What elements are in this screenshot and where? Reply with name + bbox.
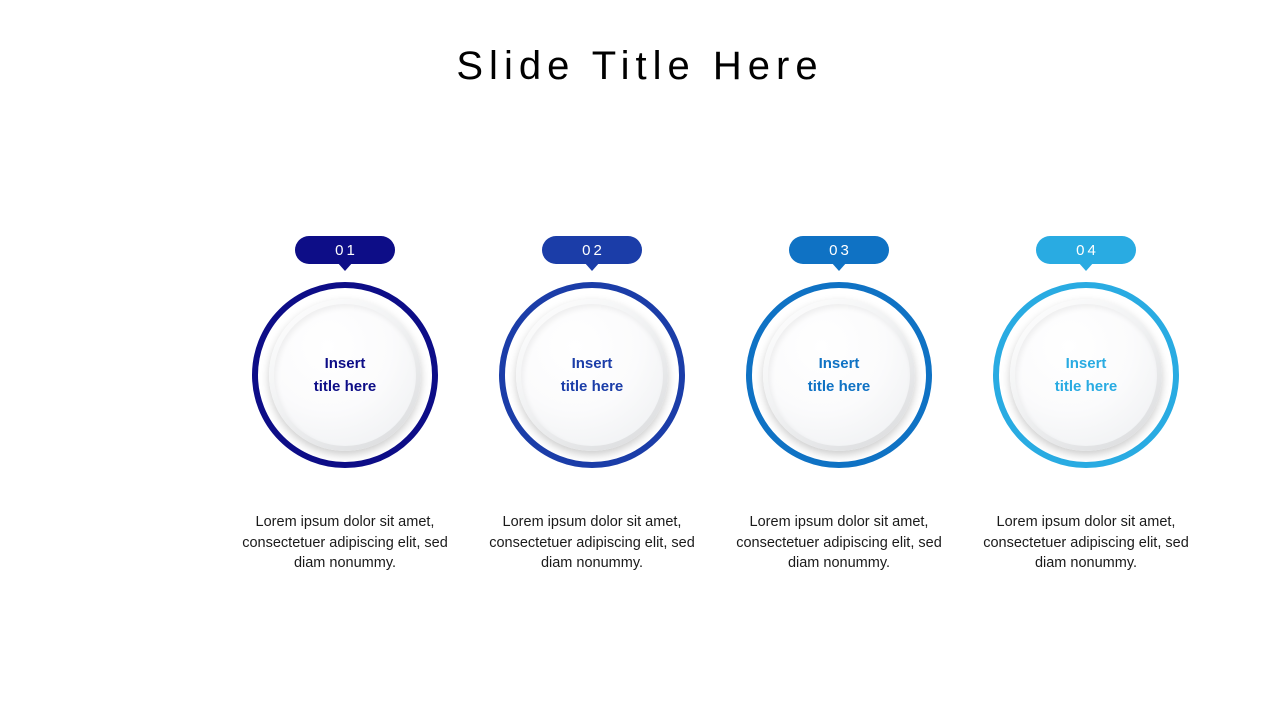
step-number-label-1: 01	[335, 242, 358, 259]
step-number-badge-4[interactable]: 04	[1036, 236, 1136, 264]
step-circle-inner-4: Insert title here	[1015, 304, 1157, 446]
step-circle-inner-3: Insert title here	[768, 304, 910, 446]
step-circle-3[interactable]: Insert title here	[746, 282, 932, 468]
step-item-2[interactable]: 02 Insert title here	[469, 236, 715, 468]
step-title-1: Insert title here	[314, 352, 377, 399]
slide-canvas: Slide Title Here 01 Ins	[0, 0, 1280, 720]
step-title-4: Insert title here	[1055, 352, 1118, 399]
step-circle-inner-1: Insert title here	[274, 304, 416, 446]
step-item-1[interactable]: 01 Insert title here	[222, 236, 468, 468]
step-item-3[interactable]: 03 Insert title here	[716, 236, 962, 468]
steps-row: 01 Insert title here 02 Insert title her…	[0, 0, 1280, 720]
step-caption-2: Lorem ipsum dolor sit amet, consectetuer…	[477, 512, 707, 574]
step-caption-3: Lorem ipsum dolor sit amet, consectetuer…	[724, 512, 954, 574]
step-circle-inner-2: Insert title here	[521, 304, 663, 446]
step-caption-1: Lorem ipsum dolor sit amet, consectetuer…	[230, 512, 460, 574]
step-circle-4[interactable]: Insert title here	[993, 282, 1179, 468]
step-number-badge-1[interactable]: 01	[295, 236, 395, 264]
step-number-badge-2[interactable]: 02	[542, 236, 642, 264]
step-title-2: Insert title here	[561, 352, 624, 399]
step-item-4[interactable]: 04 Insert title here	[963, 236, 1209, 468]
step-circle-1[interactable]: Insert title here	[252, 282, 438, 468]
step-number-label-2: 02	[582, 242, 605, 259]
step-number-label-3: 03	[829, 242, 852, 259]
step-title-3: Insert title here	[808, 352, 871, 399]
step-number-badge-3[interactable]: 03	[789, 236, 889, 264]
step-number-label-4: 04	[1076, 242, 1099, 259]
step-caption-4: Lorem ipsum dolor sit amet, consectetuer…	[971, 512, 1201, 574]
step-circle-2[interactable]: Insert title here	[499, 282, 685, 468]
